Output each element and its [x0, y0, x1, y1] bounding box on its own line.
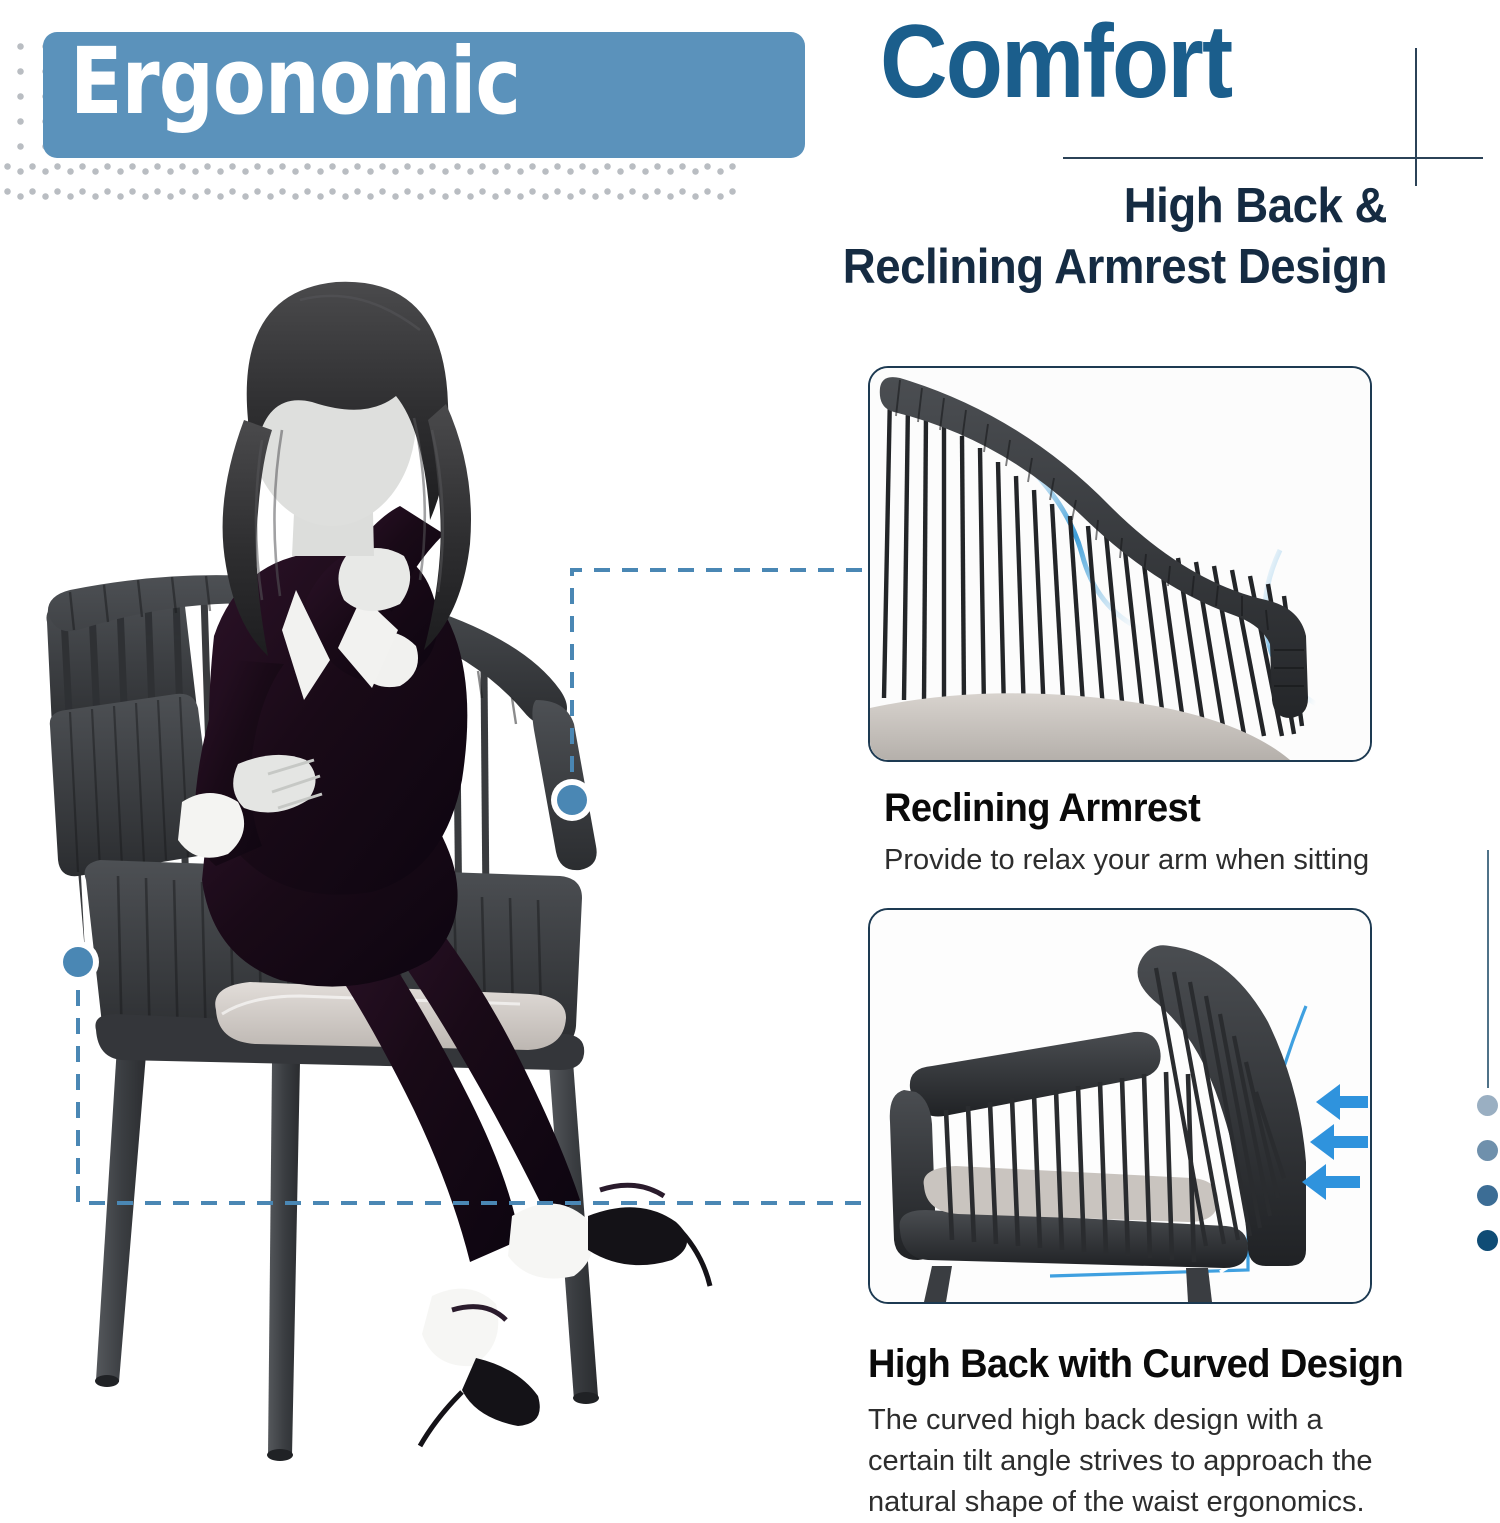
header-divider-horizontal: [1063, 157, 1483, 159]
infographic-canvas: Ergonomic Comfort High Back & Reclining …: [0, 0, 1500, 1500]
callout-dot-armrest: [557, 785, 587, 815]
rail-divider-line: [1487, 850, 1489, 1088]
subtitle-line-1: High Back &: [680, 176, 1387, 237]
chair-legs: [95, 1030, 599, 1461]
headline-subtitle: High Back & Reclining Armrest Design: [680, 176, 1387, 298]
dot-pattern-decor-lower: [0, 150, 740, 210]
feature-desc-high-back: The curved high back design with a certa…: [868, 1400, 1388, 1523]
rail-dot-2: [1477, 1140, 1498, 1161]
armrest-closeup-graphic: [870, 368, 1370, 760]
chair-cushion: [215, 982, 566, 1050]
feature-desc-reclining-armrest: Provide to relax your arm when sitting: [884, 840, 1424, 881]
connector-high-back: [78, 962, 866, 1203]
rail-dot-3: [1477, 1185, 1498, 1206]
headline-badge-word: Ergonomic: [70, 36, 740, 128]
feature-image-high-back: [868, 908, 1372, 1304]
feature-image-reclining-armrest: [868, 366, 1372, 762]
feature-title-reclining-armrest: Reclining Armrest: [884, 786, 1200, 831]
high-back-profile-graphic: [870, 910, 1370, 1302]
callout-connectors: [78, 570, 866, 1203]
subtitle-line-2: Reclining Armrest Design: [680, 237, 1387, 298]
feature-title-high-back: High Back with Curved Design: [868, 1342, 1403, 1387]
chair-woven-body: [46, 575, 596, 1070]
rail-dot-1: [1477, 1095, 1498, 1116]
connector-armrest: [572, 570, 866, 800]
callout-dot-high-back: [63, 947, 93, 977]
seated-model: [178, 282, 710, 1446]
headline-accent-word: Comfort: [880, 10, 1231, 114]
rail-dot-4: [1477, 1230, 1498, 1251]
header-divider-vertical: [1415, 48, 1417, 186]
